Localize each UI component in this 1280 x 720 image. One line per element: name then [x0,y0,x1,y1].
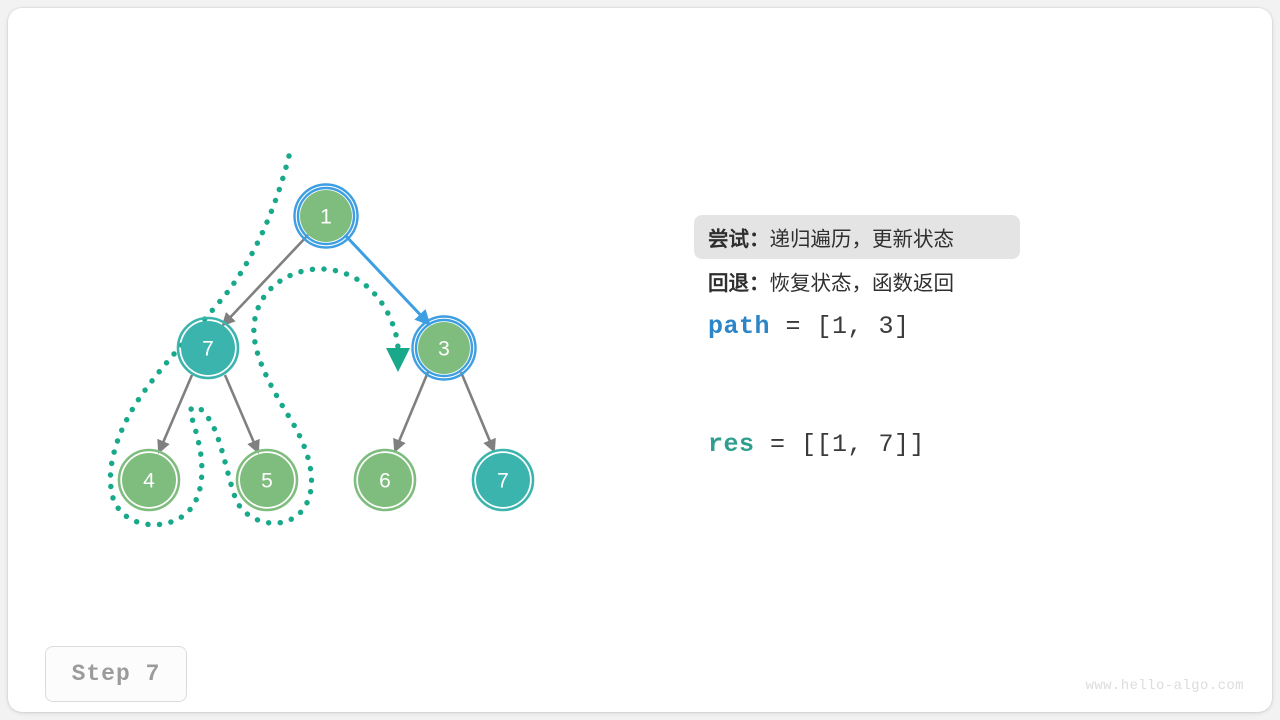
tree-node-3-label: 3 [438,338,450,361]
backtrack-step-line: 回退：恢复状态，函数返回 [694,259,1234,303]
tree-node-6[interactable]: 6 [355,450,415,510]
edge-7-left-to-5 [225,375,258,452]
tree-node-6-label: 6 [379,470,391,493]
path-variable-value: = [1, 3] [770,312,910,341]
tree-node-7-left-label: 7 [202,338,214,361]
edge-1-to-7-left [223,235,308,325]
tree-node-7-right-label: 7 [497,470,509,493]
res-variable-line: res = [[1, 7]] [694,421,1234,467]
edge-3-to-6 [395,372,428,451]
tree-node-1-label: 1 [320,206,332,229]
tree-node-4-label: 4 [143,470,155,493]
step-badge: Step 7 [45,646,187,702]
tree-node-7-left[interactable]: 7 [178,318,238,378]
screenshot-canvas: 1 7 3 4 [0,0,1280,720]
tree-node-5-label: 5 [261,470,273,493]
edge-7-left-to-4 [159,375,192,452]
try-step-label: 尝试： [708,222,770,252]
trail-arrowhead-icon [386,348,410,372]
backtrack-step-text: 恢复状态，函数返回 [770,266,955,296]
backtrack-step-label: 回退： [708,266,770,296]
edge-3-to-7-right [461,372,494,451]
tree-node-1[interactable]: 1 [295,185,358,248]
tree-nodes: 1 7 3 4 [119,185,533,511]
path-variable-line: path = [1, 3] [694,303,1234,349]
try-step-text: 递归遍历，更新状态 [770,222,955,252]
res-variable-name: res [708,430,755,459]
tree-node-7-right[interactable]: 7 [473,450,533,510]
tree-node-3[interactable]: 3 [413,317,476,380]
info-panel: 尝试：递归遍历，更新状态 回退：恢复状态，函数返回 path = [1, 3] … [694,215,1234,467]
res-variable-value: = [[1, 7]] [755,430,926,459]
site-watermark: www.hello-algo.com [1086,678,1244,694]
content-card: 1 7 3 4 [8,8,1272,712]
try-step-line: 尝试：递归遍历，更新状态 [694,215,1020,259]
tree-node-5[interactable]: 5 [237,450,297,510]
panel-spacer [694,349,1234,421]
tree-node-4[interactable]: 4 [119,450,179,510]
path-variable-name: path [708,312,770,341]
